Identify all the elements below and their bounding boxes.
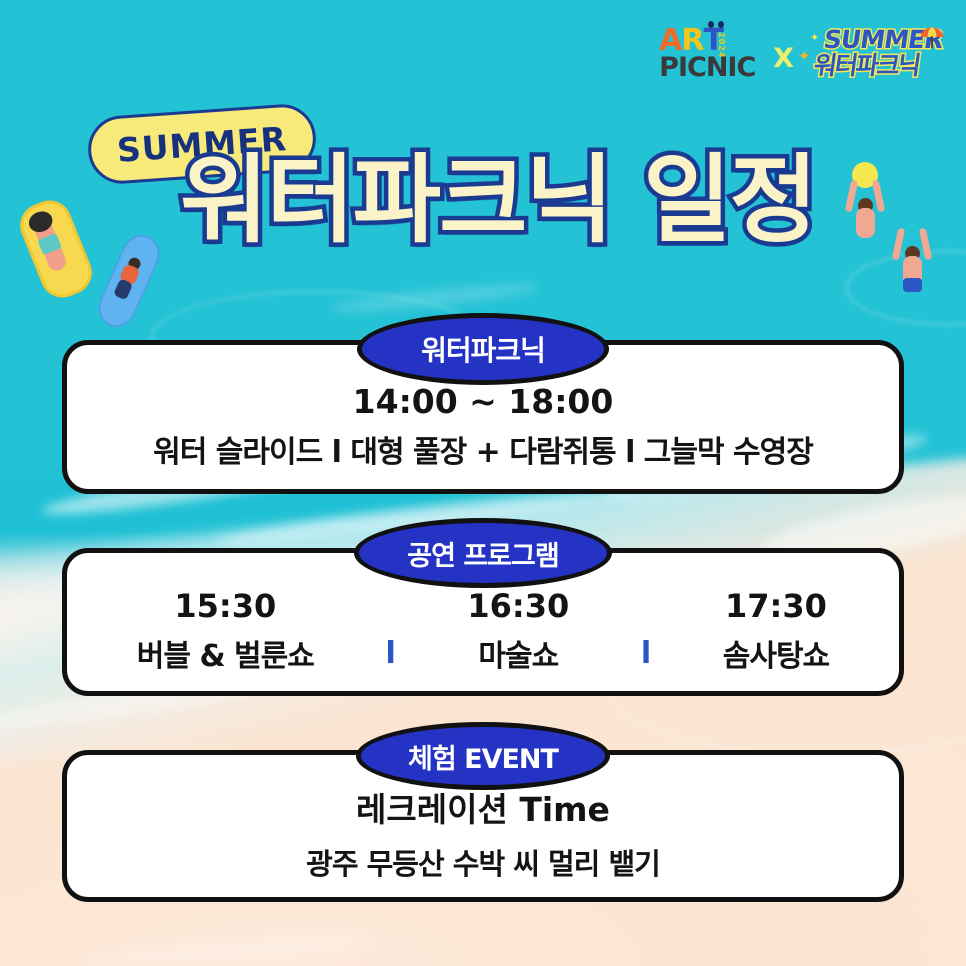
card-badge-performance: 공연 프로그램 <box>354 518 612 588</box>
performance-time: 17:30 <box>725 587 827 625</box>
performance-slot: 15:30 버블 & 벌룬쇼 <box>137 587 314 675</box>
experience-line1: 레크레이션 Time <box>356 783 610 831</box>
performance-name: 마술쇼 <box>478 631 558 675</box>
performance-slot: 16:30 마술쇼 <box>467 587 569 675</box>
performance-time: 15:30 <box>174 587 276 625</box>
eyes-icon <box>707 21 727 28</box>
art-picnic-logo: A R T 2024 PICNIC <box>659 24 763 92</box>
performance-name: 솜사탕쇼 <box>723 631 829 675</box>
art-picnic-wordmark-bottom: PICNIC <box>659 54 755 81</box>
beach-umbrella-icon <box>918 23 946 51</box>
performance-time: 16:30 <box>467 587 569 625</box>
waterpicnic-time: 14:00 ~ 18:00 <box>353 382 614 421</box>
performance-separator: l <box>641 636 651 671</box>
logo-lockup: A R T 2024 PICNIC X ✦ ✦ SUMMER 워터파크닉 <box>659 22 944 94</box>
sparkle-icon: ✦ <box>810 31 819 44</box>
page-title: 워터파크닉 일정 <box>0 152 966 248</box>
performance-separator: l <box>385 636 395 671</box>
waterpicnic-facilities: 워터 슬라이드 l 대형 풀장 + 다람쥐통 l 그늘막 수영장 <box>153 427 813 471</box>
performance-slot: 17:30 솜사탕쇼 <box>723 587 829 675</box>
sparkle-icon: ✦ <box>798 47 811 65</box>
card-badge-experience-event: 체험 EVENT <box>356 722 610 790</box>
summer-logo-line2: 워터파크닉 <box>812 53 921 78</box>
performance-name: 버블 & 벌룬쇼 <box>137 631 314 675</box>
swimmer-trunks <box>903 278 922 292</box>
poster-canvas: A R T 2024 PICNIC X ✦ ✦ SUMMER 워터파크닉 <box>0 0 966 966</box>
cross-symbol: X <box>773 43 794 74</box>
experience-line2: 광주 무등산 수박 씨 멀리 뱉기 <box>306 841 660 883</box>
card-badge-waterpicnic: 워터파크닉 <box>357 313 609 385</box>
summer-waterpicnic-logo: ✦ ✦ SUMMER 워터파크닉 <box>804 25 944 91</box>
